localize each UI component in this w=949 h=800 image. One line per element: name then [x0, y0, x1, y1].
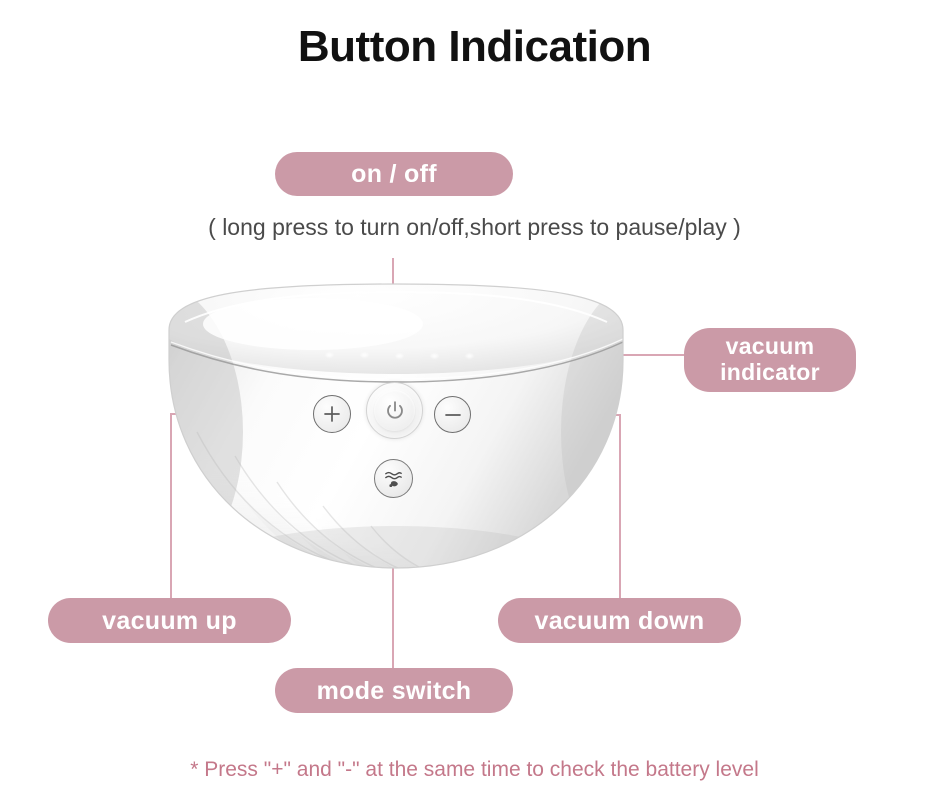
- vacuum-led-1: [325, 352, 334, 358]
- callout-vacuum-indicator[interactable]: vacuum indicator: [684, 328, 856, 392]
- power-button[interactable]: [366, 382, 423, 439]
- minus-button[interactable]: [434, 396, 471, 433]
- button-indication-infographic: Button Indication on / off ( long press …: [0, 0, 949, 800]
- callout-vacuum-down[interactable]: vacuum down: [498, 598, 741, 643]
- mode-button[interactable]: [374, 459, 413, 498]
- plus-icon: [322, 404, 342, 424]
- battery-level-footnote: * Press "+" and "-" at the same time to …: [0, 758, 949, 782]
- vacuum-led-3: [395, 353, 404, 359]
- page-title: Button Indication: [0, 22, 949, 72]
- vacuum-led-5: [465, 353, 474, 359]
- wave-drop-icon: [382, 467, 405, 490]
- power-icon: [384, 400, 406, 422]
- on-off-description: ( long press to turn on/off,short press …: [0, 214, 949, 241]
- callout-on-off[interactable]: on / off: [275, 152, 513, 196]
- callout-vacuum-indicator-line1: vacuum: [720, 334, 820, 360]
- minus-icon: [443, 405, 463, 425]
- callout-vacuum-up[interactable]: vacuum up: [48, 598, 291, 643]
- vacuum-led-2: [360, 352, 369, 358]
- vacuum-led-4: [430, 353, 439, 359]
- callout-mode-switch[interactable]: mode switch: [275, 668, 513, 713]
- plus-button[interactable]: [313, 395, 351, 433]
- callout-vacuum-indicator-line2: indicator: [720, 360, 820, 386]
